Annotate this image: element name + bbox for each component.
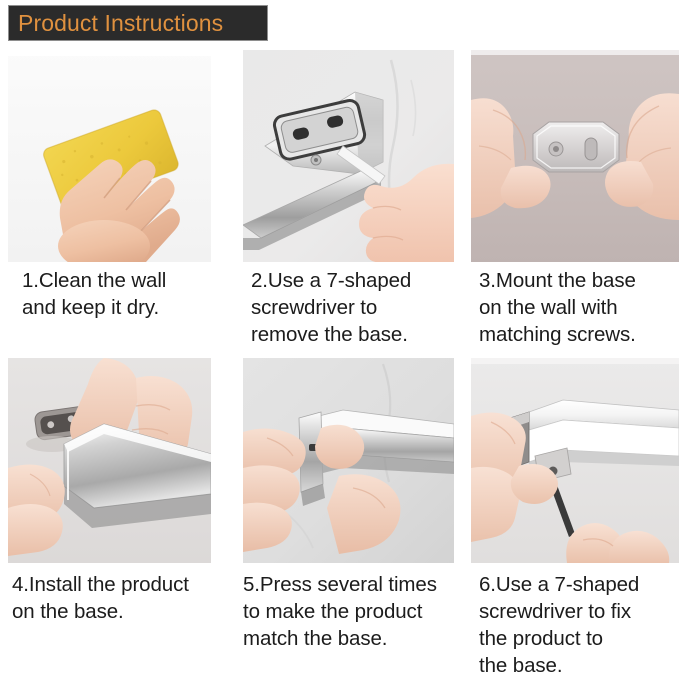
step-4-cell: 4.Install the product on the base. — [8, 358, 211, 666]
step-5-caption: 5.Press several times to make the produc… — [243, 571, 459, 652]
step-6-caption: 6.Use a 7-shaped screwdriver to fix the … — [479, 571, 679, 679]
step-3-cell: 3.Mount the base on the wall with matchi… — [471, 50, 679, 358]
step-6-cell: 6.Use a 7-shaped screwdriver to fix the … — [471, 358, 679, 666]
header-banner: Product Instructions — [8, 5, 268, 41]
step-3-photo-mount-base — [471, 50, 679, 262]
step-2-cell: 2.Use a 7-shaped screwdriver to remove t… — [243, 50, 454, 358]
step-5-cell: 5.Press several times to make the produc… — [243, 358, 454, 666]
step-6-photo-fix-product — [471, 358, 679, 563]
step-2-caption: 2.Use a 7-shaped screwdriver to remove t… — [251, 267, 461, 348]
sponge-on-wall-illustration — [8, 50, 211, 262]
step-4-photo-install-product — [8, 358, 211, 563]
tightening-screw-allen-key-illustration — [471, 358, 679, 563]
step-1-cell: 1.Clean the wall and keep it dry. — [8, 50, 211, 358]
steps-row-bottom: 4.Install the product on the base. — [0, 358, 679, 666]
hands-holding-base-plate-illustration — [471, 50, 679, 262]
step-2-photo-remove-base — [243, 50, 454, 262]
step-5-photo-press-product — [243, 358, 454, 563]
page-title: Product Instructions — [18, 12, 223, 35]
step-3-caption: 3.Mount the base on the wall with matchi… — [479, 267, 679, 348]
bracket-and-allen-key-illustration — [243, 50, 454, 262]
step-1-photo-clean-wall — [8, 50, 211, 262]
pressing-towel-bar-illustration — [243, 358, 454, 563]
installing-bracket-illustration — [8, 358, 211, 563]
step-4-caption: 4.Install the product on the base. — [12, 571, 224, 625]
steps-row-top: 1.Clean the wall and keep it dry. — [0, 50, 679, 358]
step-1-caption: 1.Clean the wall and keep it dry. — [22, 267, 222, 321]
